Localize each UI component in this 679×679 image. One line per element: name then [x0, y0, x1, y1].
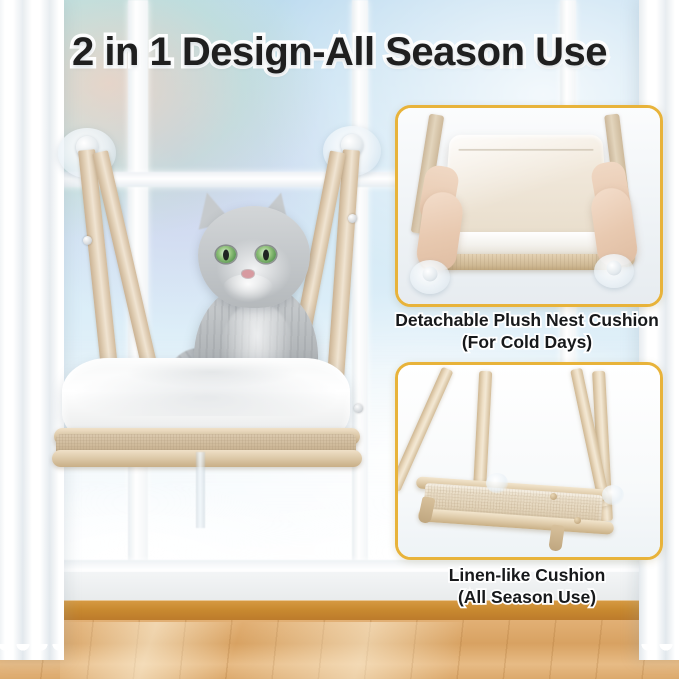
- cat-nose: [242, 270, 254, 278]
- inset-bottom-suction-cap-left: [486, 473, 508, 493]
- inset-panel-linen-cushion[interactable]: [395, 362, 663, 560]
- caption-plush-cushion: Detachable Plush Nest Cushion (For Cold …: [378, 309, 676, 353]
- inset-top-plush-cushion: [442, 135, 611, 243]
- window-frame-post: [196, 452, 205, 528]
- caption-linen-line2: (All Season Use): [378, 586, 676, 608]
- wood-floor: [0, 620, 679, 679]
- inset-bottom-suction-cap-right: [602, 485, 624, 505]
- hammock-bottom-rail: [52, 450, 362, 467]
- inset-bottom-screw-b: [574, 517, 581, 524]
- inset-top-suction-cup-right: [594, 254, 634, 288]
- cat-pupil-left: [223, 249, 229, 260]
- curtain-hem-left: [0, 644, 64, 660]
- product-poster: 2 in 1 Design-All Season Use Detachable …: [0, 0, 679, 679]
- cat-eye-right: [256, 246, 276, 263]
- cat-window-hammock: [0, 0, 400, 540]
- cat-eye-left: [216, 246, 236, 263]
- strap-rivet-right-lower: [354, 404, 363, 413]
- caption-plush-line2: (For Cold Days): [378, 331, 676, 353]
- strap-rivet-right-upper: [348, 214, 357, 223]
- cat-muzzle: [223, 274, 273, 302]
- inset-top-suction-cup-left: [410, 260, 450, 294]
- curtain-hem-right: [639, 644, 679, 660]
- inset-bottom-screw-a: [550, 493, 557, 500]
- caption-plush-line1: Detachable Plush Nest Cushion: [395, 310, 659, 330]
- caption-linen-cushion: Linen-like Cushion (All Season Use): [378, 564, 676, 608]
- page-title: 2 in 1 Design-All Season Use: [0, 30, 679, 75]
- cat-pupil-right: [263, 249, 269, 260]
- inset-top-cushion-lip: [448, 232, 606, 254]
- caption-linen-line1: Linen-like Cushion: [449, 565, 606, 585]
- inset-panel-plush-cushion[interactable]: [395, 105, 663, 307]
- strap-rivet-left-upper: [83, 236, 92, 245]
